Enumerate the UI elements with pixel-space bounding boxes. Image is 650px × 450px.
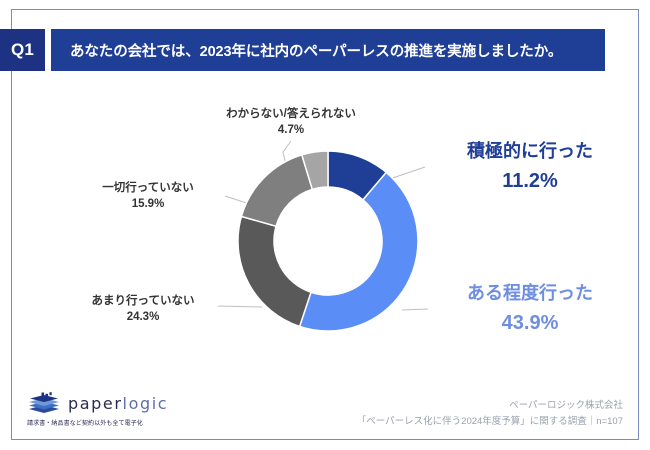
callout-pct-active: 11.2% [430, 168, 630, 196]
footer-company: ペーパーロジック株式会社 [357, 398, 623, 414]
callout-name-none: 一切行っていない [102, 182, 193, 194]
donut-segment-little [238, 216, 311, 326]
logo-word-light: logic [123, 394, 169, 413]
callout-name-some: ある程度行った [430, 281, 630, 306]
question-title-text: あなたの会社では、2023年に社内のペーパーレスの推進を実施しましたか。 [70, 40, 562, 61]
callout-label-unknown: わからない/答えられない 4.7% [203, 106, 379, 139]
footer-survey: 「ペーパーレス化に伴う2024年度予算」に関する調査｜n=107 [357, 414, 623, 430]
company-logo: paperlogic 請求書・納品書など契約以外も全て電子化 [27, 392, 197, 434]
paperlogic-logo-icon [27, 392, 61, 414]
callout-pct-unknown: 4.7% [203, 122, 379, 138]
donut-segment-none [241, 155, 312, 226]
callout-pct-little: 24.3% [62, 309, 224, 325]
callout-label-none: 一切行っていない 15.9% [73, 180, 223, 213]
callout-pct-some: 43.9% [430, 310, 630, 338]
callout-name-active: 積極的に行った [430, 139, 630, 164]
question-number-label: Q1 [11, 40, 34, 60]
question-number-badge: Q1 [0, 29, 45, 71]
question-title-bar: あなたの会社では、2023年に社内のペーパーレスの推進を実施しましたか。 [51, 29, 605, 71]
callout-label-some: ある程度行った 43.9% [430, 281, 630, 337]
callout-name-unknown: わからない/答えられない [226, 108, 356, 120]
logo-word-dark: paper [68, 394, 123, 413]
donut-chart [232, 145, 424, 337]
callout-name-little: あまり行っていない [92, 295, 195, 307]
callout-label-active: 積極的に行った 11.2% [430, 139, 630, 195]
callout-label-little: あまり行っていない 24.3% [62, 293, 224, 326]
slide-canvas: Q1 あなたの会社では、2023年に社内のペーパーレスの推進を実施しましたか。 … [0, 0, 650, 450]
logo-tagline: 請求書・納品書など契約以外も全て電子化 [27, 418, 197, 427]
footer-source: ペーパーロジック株式会社 「ペーパーレス化に伴う2024年度予算」に関する調査｜… [357, 398, 623, 429]
question-header: Q1 あなたの会社では、2023年に社内のペーパーレスの推進を実施しましたか。 [0, 29, 605, 71]
logo-wordmark: paperlogic [68, 394, 168, 413]
callout-pct-none: 15.9% [73, 196, 223, 212]
